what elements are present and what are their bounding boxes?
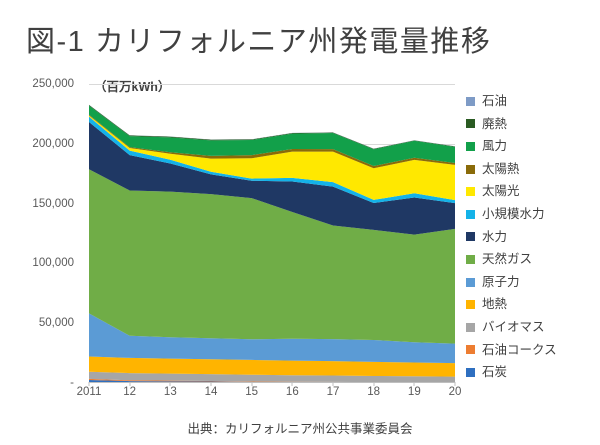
- x-axis-tick-label: 12: [123, 386, 136, 398]
- legend-item-label: 石油コークス: [482, 344, 557, 357]
- legend-item[interactable]: 風力: [466, 135, 600, 158]
- y-axis-tick-label: -: [70, 377, 74, 389]
- legend-swatch-icon: [466, 323, 475, 332]
- legend-item[interactable]: 太陽光: [466, 180, 600, 203]
- legend-item-label: 地熱: [482, 298, 507, 311]
- legend-swatch-icon: [466, 119, 475, 128]
- legend-item[interactable]: 太陽熱: [466, 158, 600, 181]
- chart-container: 図-1 カリフォルニア州発電量推移 （百万kWh） -50,000100,000…: [0, 0, 600, 445]
- legend-item-label: 天然ガス: [482, 253, 532, 266]
- legend-item[interactable]: 石油コークス: [466, 339, 600, 362]
- legend-item[interactable]: 廃熱: [466, 113, 600, 136]
- stacked-area-series: [89, 84, 455, 383]
- legend-swatch-icon: [466, 210, 475, 219]
- y-axis-tick-label: 150,000: [32, 198, 74, 210]
- legend-item[interactable]: 天然ガス: [466, 248, 600, 271]
- legend-item-label: 小規模水力: [482, 208, 545, 221]
- x-axis-tick-label: 19: [408, 386, 421, 398]
- legend-item-label: 石油: [482, 95, 507, 108]
- x-axis-tick-label: 16: [286, 386, 299, 398]
- y-axis: -50,000100,000150,000200,000250,000: [0, 80, 82, 392]
- x-axis-line: [89, 382, 455, 383]
- x-axis-tick-label: 14: [205, 386, 218, 398]
- legend-item-label: 水力: [482, 231, 507, 244]
- legend-item[interactable]: 原子力: [466, 271, 600, 294]
- legend-item[interactable]: バイオマス: [466, 316, 600, 339]
- legend-swatch-icon: [466, 278, 475, 287]
- legend-item-label: 太陽熱: [482, 163, 520, 176]
- x-axis-tick-label: 2011: [77, 386, 102, 398]
- source-note: 出典：カリフォルニア州公共事業委員会: [0, 418, 600, 437]
- legend-swatch-icon: [466, 165, 475, 174]
- legend-swatch-icon: [466, 232, 475, 241]
- legend-item-label: バイオマス: [482, 321, 545, 334]
- legend-item[interactable]: 地熱: [466, 293, 600, 316]
- legend-item[interactable]: 小規模水力: [466, 203, 600, 226]
- x-axis-tick-label: 15: [245, 386, 258, 398]
- x-axis: 2011121314151617181920: [89, 386, 455, 408]
- legend-item-label: 原子力: [482, 276, 520, 289]
- legend: 石油廃熱風力太陽熱太陽光小規模水力水力天然ガス原子力地熱バイオマス石油コークス石…: [466, 90, 600, 384]
- page-title: 図-1 カリフォルニア州発電量推移: [26, 18, 491, 60]
- x-axis-tick-label: 17: [327, 386, 340, 398]
- legend-item-label: 太陽光: [482, 185, 520, 198]
- legend-item[interactable]: 石炭: [466, 361, 600, 384]
- x-axis-tick-label: 20: [449, 386, 462, 398]
- legend-swatch-icon: [466, 255, 475, 264]
- legend-swatch-icon: [466, 345, 475, 354]
- x-axis-tick-label: 18: [367, 386, 380, 398]
- legend-swatch-icon: [466, 368, 475, 377]
- legend-swatch-icon: [466, 97, 475, 106]
- legend-item-label: 石炭: [482, 366, 507, 379]
- legend-item-label: 風力: [482, 140, 507, 153]
- legend-item-label: 廃熱: [482, 118, 507, 131]
- y-axis-tick-label: 50,000: [39, 317, 74, 329]
- legend-swatch-icon: [466, 142, 475, 151]
- legend-swatch-icon: [466, 300, 475, 309]
- y-axis-tick-label: 100,000: [32, 257, 74, 269]
- plot-area: [89, 84, 455, 383]
- y-axis-tick-label: 200,000: [32, 138, 74, 150]
- legend-item[interactable]: 水力: [466, 226, 600, 249]
- x-axis-tick-label: 13: [164, 386, 177, 398]
- y-axis-tick-label: 250,000: [32, 78, 74, 90]
- legend-swatch-icon: [466, 187, 475, 196]
- legend-item[interactable]: 石油: [466, 90, 600, 113]
